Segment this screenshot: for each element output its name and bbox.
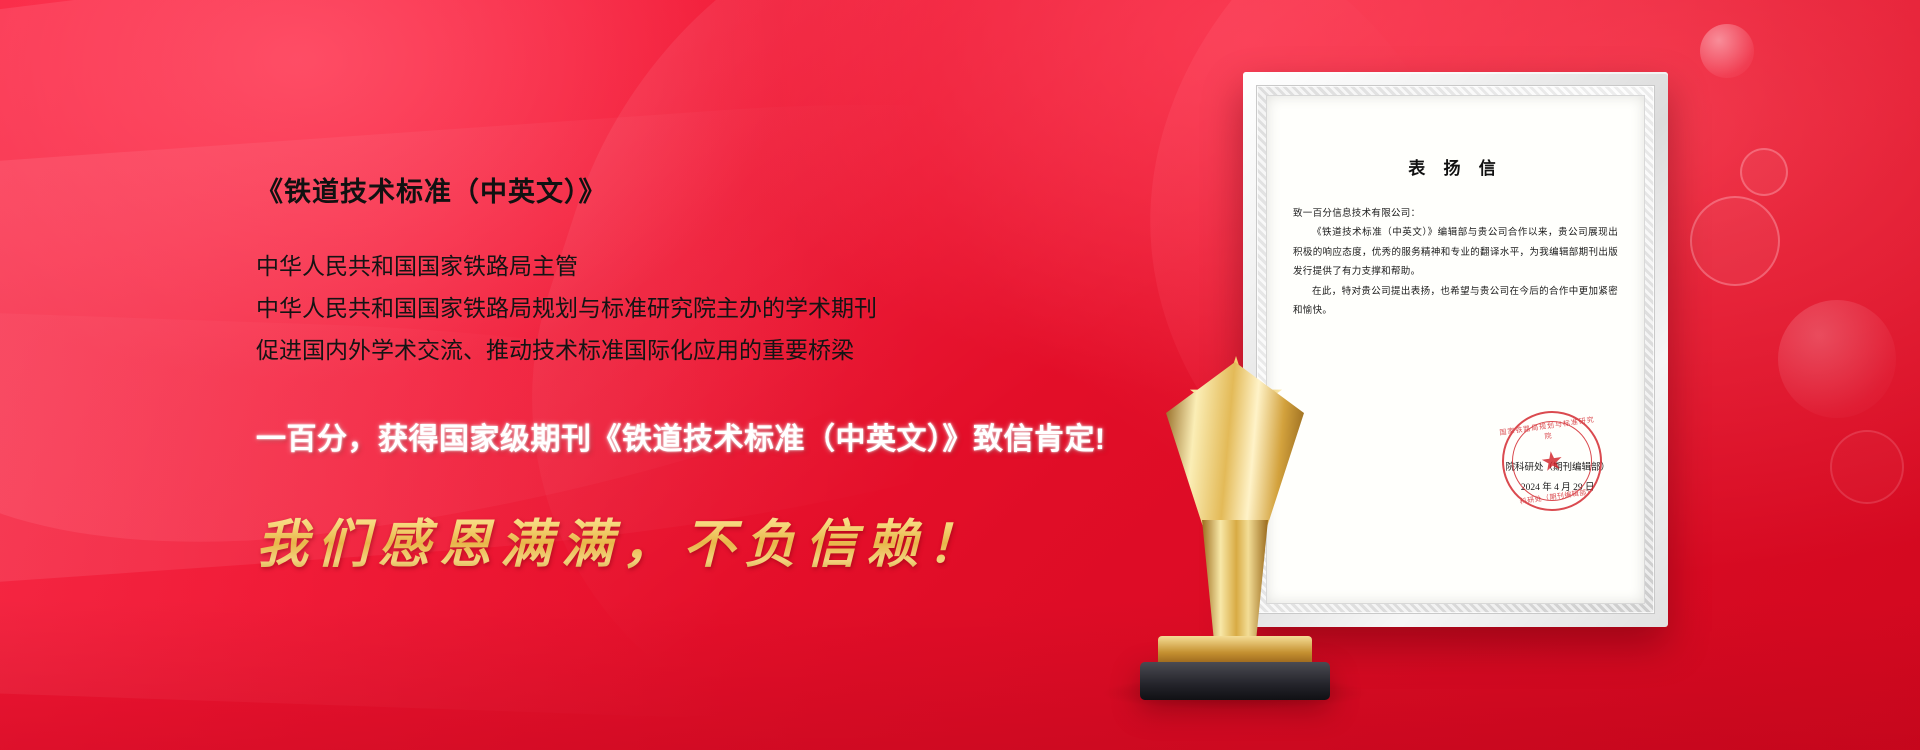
trophy-cup: [1166, 362, 1304, 532]
bokeh-circle-2: [1740, 148, 1788, 196]
sub-line-publisher: 中华人民共和国国家铁路局规划与标准研究院主办的学术期刊: [256, 288, 1156, 330]
certificate-paragraph-2: 在此，特对贵公司提出表扬，也希望与贵公司在今后的合作中更加紧密和愉快。: [1293, 283, 1618, 322]
star-icon: ★: [1539, 447, 1566, 476]
trophy-dark-base: [1140, 662, 1330, 700]
banner-stage: 《铁道技术标准（中英文）》 中华人民共和国国家铁路局主管 中华人民共和国国家铁路…: [0, 0, 1920, 750]
bokeh-circle-3: [1690, 196, 1780, 286]
bokeh-circle-5: [1830, 430, 1904, 504]
certificate-title: 表 扬 信: [1293, 154, 1618, 179]
seal-top-text: 国家铁路局规划与标准研究院: [1499, 415, 1597, 448]
sub-line-mission: 促进国内外学术交流、推动技术标准国际化应用的重要桥梁: [256, 330, 1156, 372]
banner-copy: 《铁道技术标准（中英文）》 中华人民共和国国家铁路局主管 中华人民共和国国家铁路…: [256, 176, 1156, 577]
headline: 一百分，获得国家级期刊《铁道技术标准（中英文）》致信肯定!: [256, 414, 1156, 458]
trophy-stem: [1202, 520, 1268, 640]
official-seal: 国家铁路局规划与标准研究院 ★ 科研处（期刊编辑部）: [1496, 405, 1609, 518]
sub-line-supervisor: 中华人民共和国国家铁路局主管: [256, 246, 1156, 288]
calligraphy-slogan: 我们感恩满满，不负信赖！: [256, 502, 1156, 577]
trophy-graphic: [1140, 300, 1330, 700]
bokeh-circle-1: [1700, 24, 1754, 78]
seal-bottom-text: 科研处（期刊编辑部）: [1509, 485, 1605, 508]
certificate-salutation: 致一百分信息技术有限公司：: [1293, 205, 1618, 224]
bokeh-circle-4: [1778, 300, 1896, 418]
journal-title: 《铁道技术标准（中英文）》: [256, 176, 1156, 208]
certificate-paragraph-1: 《铁道技术标准（中英文）》编辑部与贵公司合作以来，贵公司展现出积极的响应态度，优…: [1293, 224, 1618, 282]
